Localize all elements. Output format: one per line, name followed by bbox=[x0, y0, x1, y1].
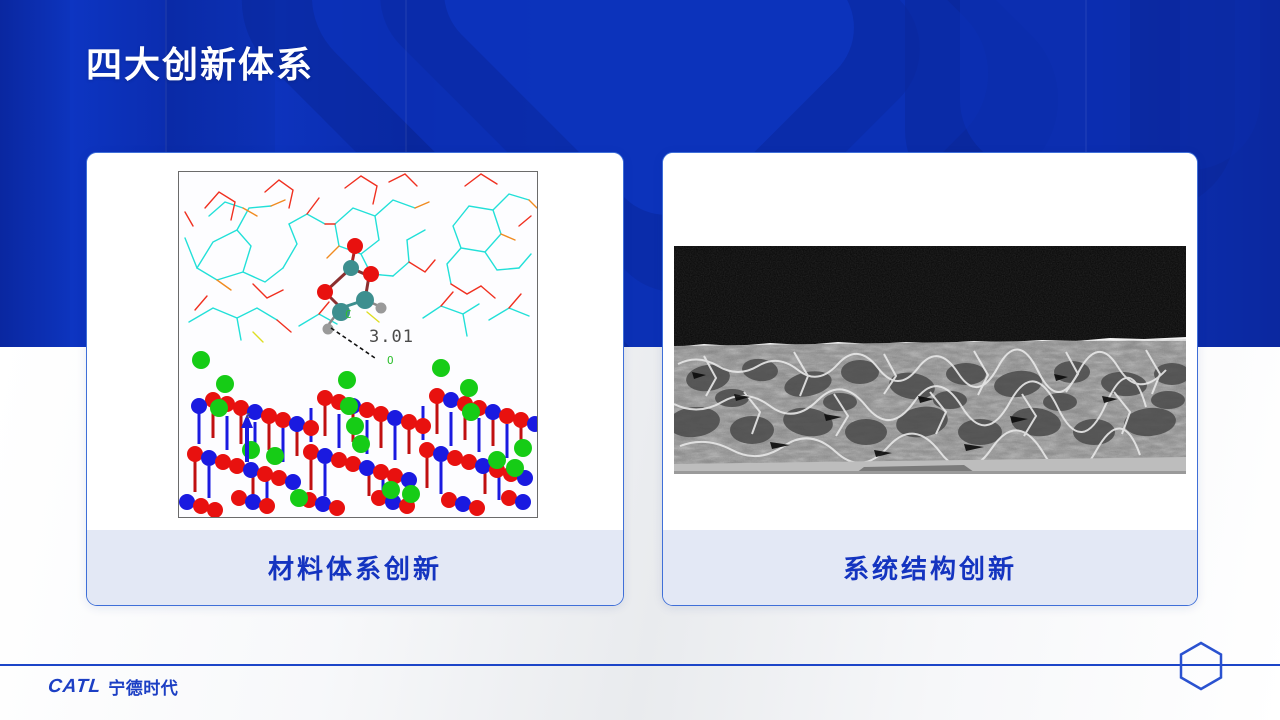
footer-divider bbox=[0, 664, 1280, 666]
catl-logo: CATL 宁德时代 bbox=[48, 674, 178, 699]
sem-cross-section-figure bbox=[674, 246, 1186, 474]
svg-text:z: z bbox=[245, 411, 250, 421]
hexagon-decoration-icon bbox=[1178, 641, 1224, 691]
md-distance-label: 3.01 bbox=[369, 327, 414, 347]
md-simulation-svg: C bbox=[179, 172, 537, 517]
logo-chinese-text: 宁德时代 bbox=[108, 674, 178, 699]
logo-latin-text: CATL bbox=[47, 676, 103, 698]
sem-image-svg bbox=[674, 246, 1186, 474]
svg-text:O: O bbox=[387, 354, 394, 367]
page-title: 四大创新体系 bbox=[86, 44, 314, 85]
card-material-innovation[interactable]: C bbox=[86, 152, 624, 606]
md-simulation-figure: C bbox=[178, 171, 538, 518]
card-media-area bbox=[663, 153, 1197, 530]
svg-text:C: C bbox=[345, 308, 352, 321]
card-media-area: C bbox=[87, 153, 623, 530]
slide: 四大创新体系 bbox=[0, 0, 1280, 720]
card-label-system: 系统结构创新 bbox=[663, 530, 1197, 605]
bg-stripe bbox=[0, 0, 70, 347]
card-system-structure-innovation[interactable]: 系统结构创新 bbox=[662, 152, 1198, 606]
card-label-material: 材料体系创新 bbox=[87, 530, 623, 605]
